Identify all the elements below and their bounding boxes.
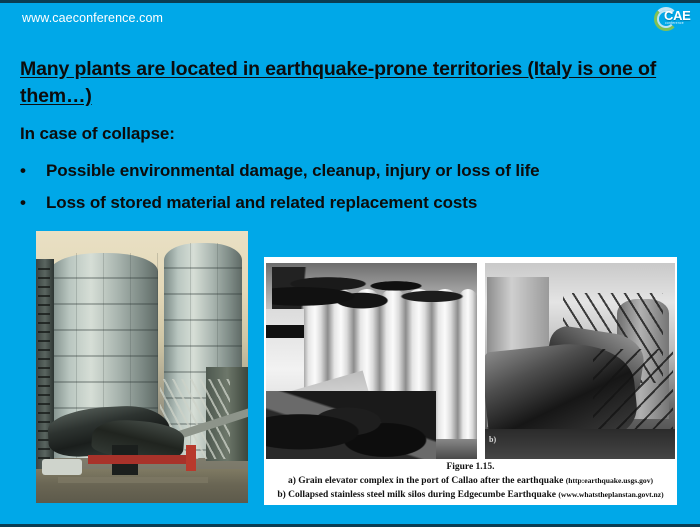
bullet-marker-icon: • [20,162,46,179]
slide-title-text: Many plants are located in earthquake-pr… [20,58,656,107]
red-railing [88,455,188,464]
site-url-text: www.caeconference.com [22,11,163,25]
bullet-text: Loss of stored material and related repl… [46,193,477,212]
figure-number: Figure 1.15. [264,461,677,474]
rubble-pile [266,391,436,459]
steel-framework [593,349,673,429]
slide-canvas: www.caeconference.com CAE conference Man… [0,0,700,527]
caption-b-source: (www.whatstheplanstan.govt.nz) [558,490,663,499]
photo-grain-elevator-callao [266,263,477,459]
wall-shadow-band [266,325,304,338]
caption-line-b: b) Collapsed stainless steel milk silos … [264,488,677,502]
list-item: •Possible environmental damage, cleanup,… [20,161,540,181]
photo-milk-silos-edgecumbe: b) [485,263,675,459]
intro-text: In case of collapse: [20,124,175,144]
slide-header: www.caeconference.com CAE conference [0,3,700,33]
white-tank-detail [42,459,82,475]
logo-subtext: conference [665,21,684,25]
figure-caption: Figure 1.15. a) Grain elevator complex i… [264,461,677,502]
caption-a-text: a) Grain elevator complex in the port of… [288,476,563,486]
list-item: •Loss of stored material and related rep… [20,193,477,213]
red-post [186,445,196,471]
bullet-marker-icon: • [20,194,46,211]
roof-debris [272,267,472,309]
slide-title: Many plants are located in earthquake-pr… [20,56,660,110]
ground-area [485,429,675,459]
silo-shape [458,289,477,439]
caption-a-source: (http:earthquake.usgs.gov) [566,476,653,485]
bullet-text: Possible environmental damage, cleanup, … [46,161,540,180]
caption-line-a: a) Grain elevator complex in the port of… [264,474,677,488]
caption-b-text: b) Collapsed stainless steel milk silos … [277,490,556,500]
photo-overlay-label: b) [489,435,496,444]
cae-logo: CAE conference [654,4,690,32]
figure-panel: b) Figure 1.15. a) Grain elevator comple… [264,257,677,505]
photo-buckled-silos [36,231,248,503]
ground-detail [58,477,208,483]
